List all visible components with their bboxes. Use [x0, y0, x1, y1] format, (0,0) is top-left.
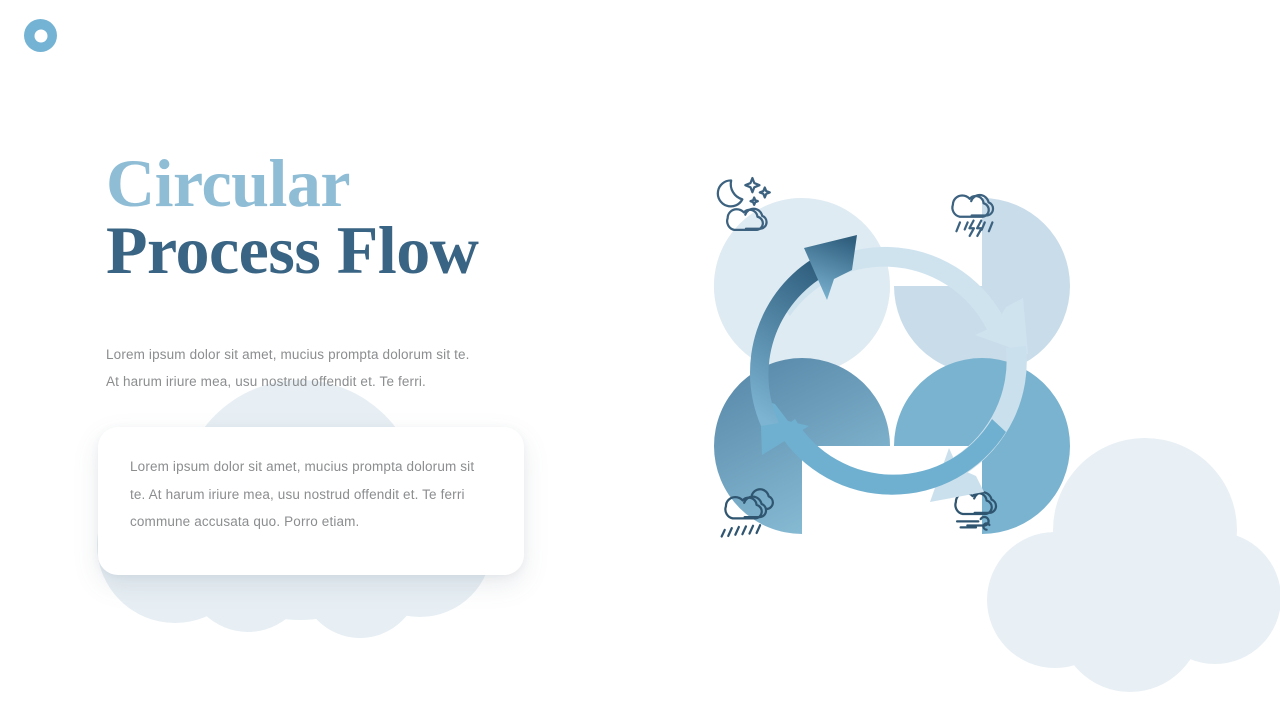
left-content-column: Circular Process Flow Lorem ipsum dolor …	[106, 150, 546, 396]
process-node-top-right[interactable]	[894, 195, 1070, 374]
page-title-line-1: Circular	[106, 150, 546, 217]
node-top-right-petal[interactable]	[894, 198, 1070, 374]
lead-paragraph-line-2: At harum iriure mea, usu nostrud offendi…	[106, 368, 536, 396]
wind-cloud-icon	[955, 492, 996, 529]
note-card: Lorem ipsum dolor sit amet, mucius promp…	[98, 427, 524, 575]
page-title-line-2: Process Flow	[106, 217, 546, 284]
lead-paragraph-line-1: Lorem ipsum dolor sit amet, mucius promp…	[106, 341, 536, 369]
lead-paragraph: Lorem ipsum dolor sit amet, mucius promp…	[106, 341, 536, 396]
slide-canvas: Circular Process Flow Lorem ipsum dolor …	[0, 0, 1280, 720]
circular-process-diagram	[612, 96, 1172, 636]
page-title: Circular Process Flow	[106, 150, 546, 285]
ring-logo-icon[interactable]	[24, 19, 57, 52]
note-card-body: Lorem ipsum dolor sit amet, mucius promp…	[130, 453, 490, 536]
